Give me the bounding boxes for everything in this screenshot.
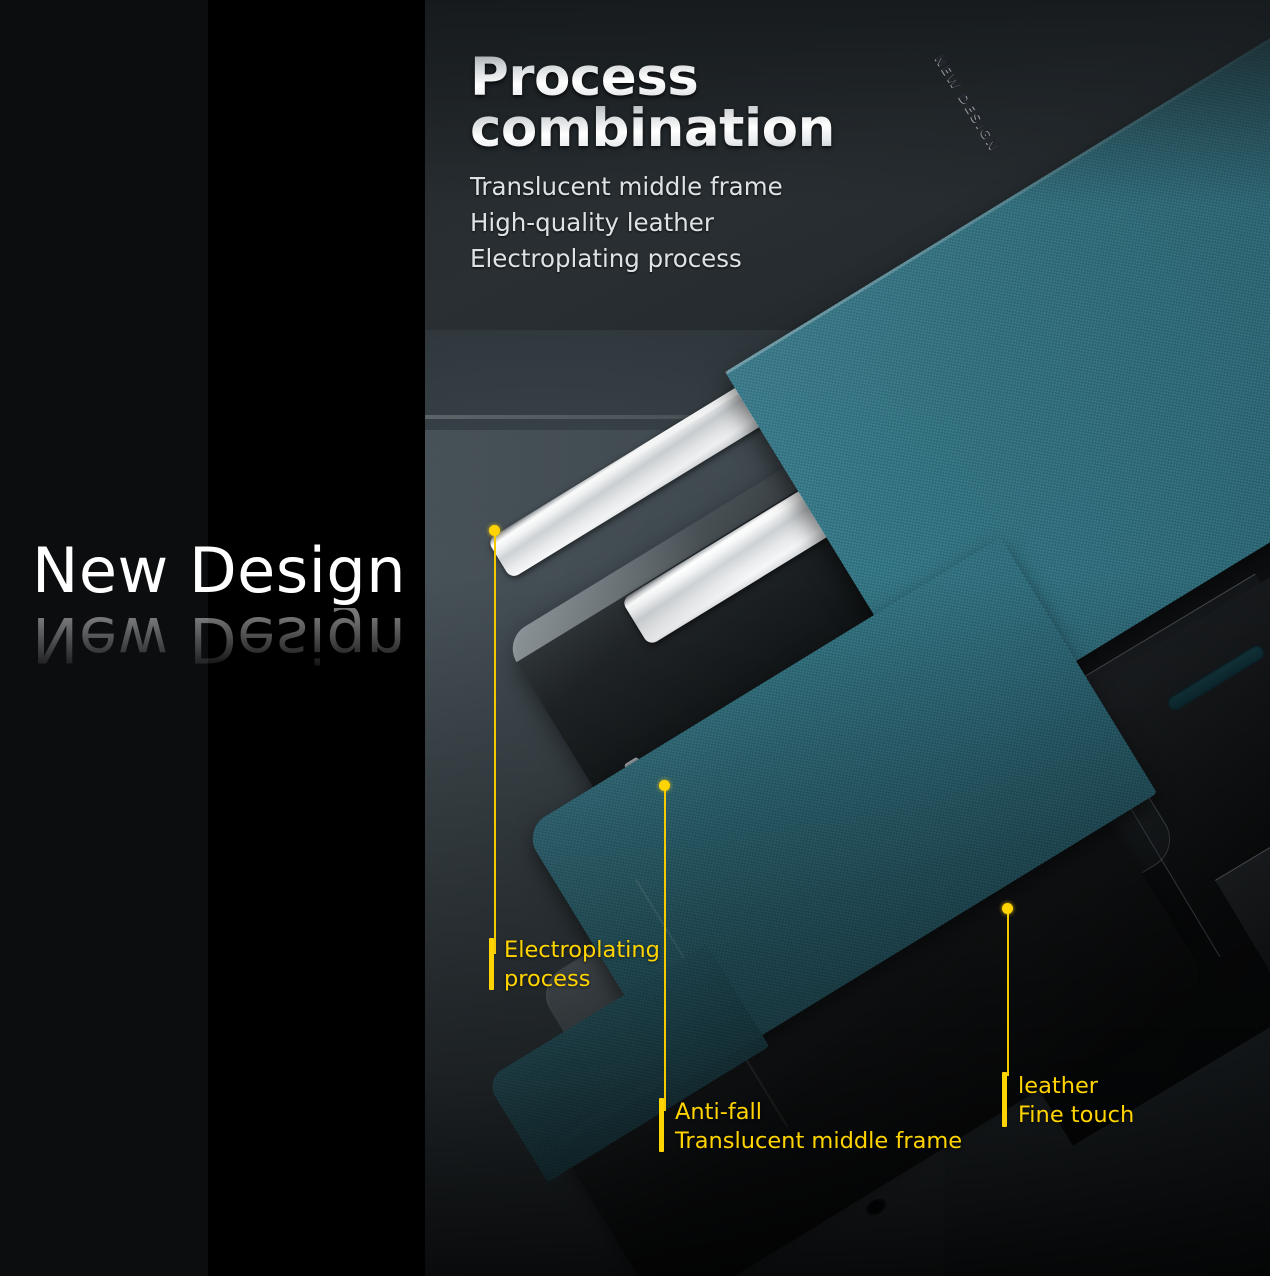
callout-anti-fall-line1: Anti-fall xyxy=(675,1098,962,1127)
callout-stub-electroplating xyxy=(489,938,494,990)
product-banner: NEW DESIGN Process combination Transluce… xyxy=(0,0,1270,1276)
headline-line-2: combination xyxy=(470,103,890,154)
callout-line-leather xyxy=(1007,912,1009,1076)
callout-anti-fall-line2: Translucent middle frame xyxy=(675,1127,962,1156)
callout-line-electroplating xyxy=(494,534,496,954)
feature-item-3: Electroplating process xyxy=(470,241,890,277)
callout-anchor-leather xyxy=(1002,903,1013,914)
callout-label-anti-fall: Anti-fall Translucent middle frame xyxy=(675,1098,962,1156)
feature-list: Translucent middle frame High-quality le… xyxy=(470,169,890,277)
callout-leather-line2: Fine touch xyxy=(1018,1101,1134,1130)
wordmark-text: New Design xyxy=(32,540,432,602)
callout-stub-anti-fall xyxy=(659,1098,664,1152)
callout-line-anti-fall xyxy=(664,789,666,1111)
callout-label-leather: leather Fine touch xyxy=(1018,1072,1134,1130)
headline-block: Process combination Translucent middle f… xyxy=(470,52,890,277)
feature-item-2: High-quality leather xyxy=(470,205,890,241)
headline-line-1: Process xyxy=(470,52,890,103)
callout-anchor-anti-fall xyxy=(659,780,670,791)
callout-electroplating-line2: process xyxy=(504,965,660,994)
callout-leather-line1: leather xyxy=(1018,1072,1134,1101)
callout-stub-leather xyxy=(1002,1072,1007,1127)
callout-anchor-electroplating xyxy=(489,525,500,536)
feature-item-1: Translucent middle frame xyxy=(470,169,890,205)
callout-electroplating-line1: Electroplating xyxy=(504,936,660,965)
wordmark-reflection: New Design xyxy=(32,608,432,670)
callout-label-electroplating: Electroplating process xyxy=(504,936,660,994)
wordmark-block: New Design New Design xyxy=(32,540,432,670)
